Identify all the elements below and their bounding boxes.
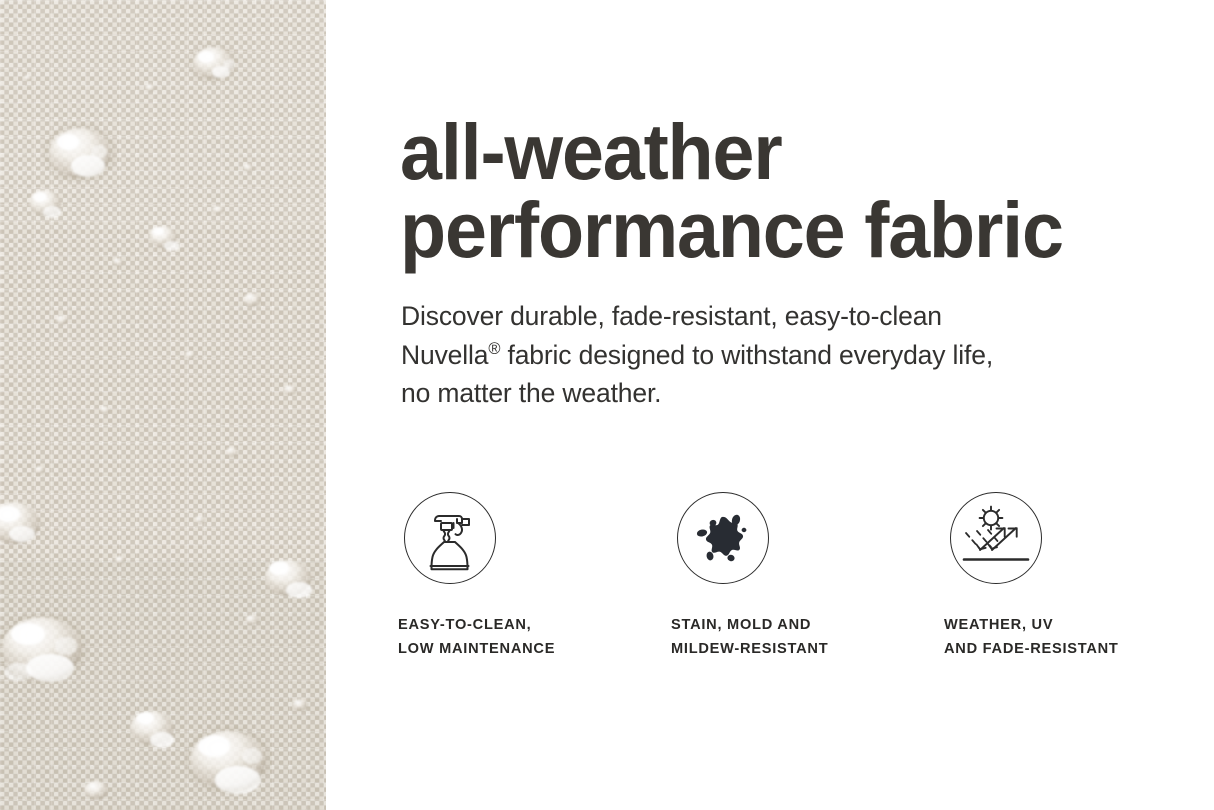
subcopy-line-2: fabric designed to withstand everyday li… xyxy=(500,340,993,370)
subcopy-brand: Nuvella xyxy=(401,340,488,370)
feature-easy-to-clean: EASY-TO-CLEAN, LOW MAINTENANCE xyxy=(398,492,671,661)
registered-trademark-symbol: ® xyxy=(488,340,500,358)
subcopy-line-1: Discover durable, fade-resistant, easy-t… xyxy=(401,301,942,331)
feature-caption: STAIN, MOLD AND MILDEW-RESISTANT xyxy=(671,614,944,661)
feature-icon-circle xyxy=(677,492,769,584)
feature-stain-resistant: STAIN, MOLD AND MILDEW-RESISTANT xyxy=(671,492,944,661)
subcopy-paragraph: Discover durable, fade-resistant, easy-t… xyxy=(401,297,1141,413)
feature-list: EASY-TO-CLEAN, LOW MAINTENANCE xyxy=(398,492,1198,661)
spray-bottle-icon xyxy=(418,504,482,572)
feature-icon-circle xyxy=(950,492,1042,584)
feature-icon-circle xyxy=(404,492,496,584)
sun-uv-reflect-icon xyxy=(961,505,1031,571)
subcopy-line-3: no matter the weather. xyxy=(401,378,661,408)
feature-weather-uv-resistant: WEATHER, UV AND FADE-RESISTANT xyxy=(944,492,1198,661)
feature-caption: EASY-TO-CLEAN, LOW MAINTENANCE xyxy=(398,614,671,661)
feature-caption: WEATHER, UV AND FADE-RESISTANT xyxy=(944,614,1198,661)
content-panel: all-weather performance fabric Discover … xyxy=(326,0,1214,810)
page-title: all-weather performance fabric xyxy=(400,113,1154,269)
water-beading-fabric-photo xyxy=(0,0,326,810)
stain-splat-icon xyxy=(691,506,755,570)
all-weather-fabric-banner: all-weather performance fabric Discover … xyxy=(0,0,1214,810)
